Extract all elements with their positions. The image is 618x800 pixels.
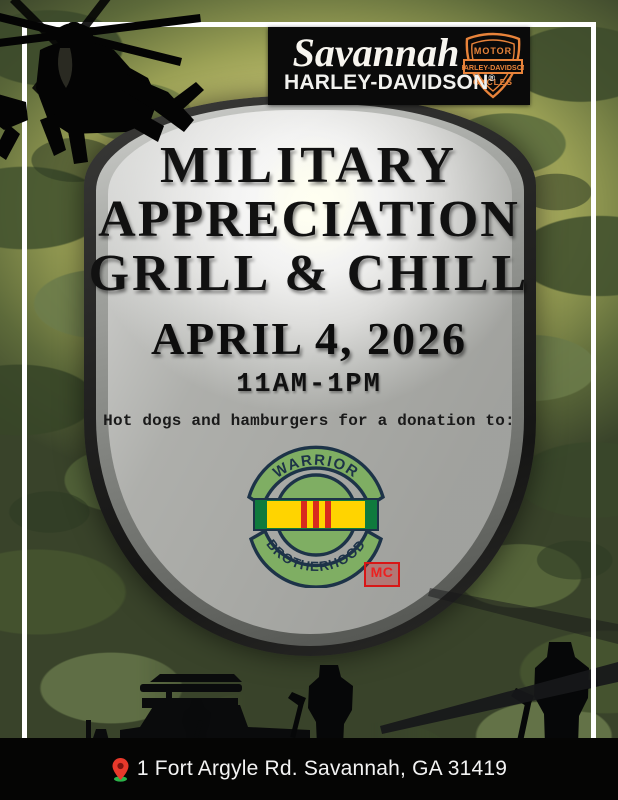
harley-davidson-logo: Savannah HARLEY-DAVIDSON® HARLEY-DAVIDSO… — [268, 27, 530, 105]
location-pin-icon — [111, 757, 130, 782]
vietnam-service-ribbon — [254, 499, 378, 530]
event-time: 11AM-1PM — [0, 370, 618, 400]
registered-mark: ® — [488, 73, 495, 83]
headline-line-3: GRILL & CHILL — [0, 244, 618, 303]
footer-bar: 1 Fort Argyle Rd. Savannah, GA 31419 — [0, 738, 618, 800]
badge-top-text: MOTOR — [474, 46, 512, 56]
hd-logo-left: Savannah HARLEY-DAVIDSON® — [268, 27, 462, 105]
savannah-script-text: Savannah — [293, 31, 460, 75]
poster-canvas: Savannah HARLEY-DAVIDSON® HARLEY-DAVIDSO… — [0, 0, 618, 800]
footer-address: 1 Fort Argyle Rd. Savannah, GA 31419 — [137, 757, 507, 781]
hd-wordmark-text: HARLEY-DAVIDSON — [284, 71, 488, 94]
headline-line-2: APPRECIATION — [0, 190, 618, 249]
event-subtitle: Hot dogs and hamburgers for a donation t… — [0, 412, 618, 430]
mc-badge: MC — [364, 562, 400, 587]
headline-line-1: MILITARY — [0, 136, 618, 195]
hd-wordmark: HARLEY-DAVIDSON® — [284, 71, 488, 95]
event-date: APRIL 4, 2026 — [0, 312, 618, 365]
